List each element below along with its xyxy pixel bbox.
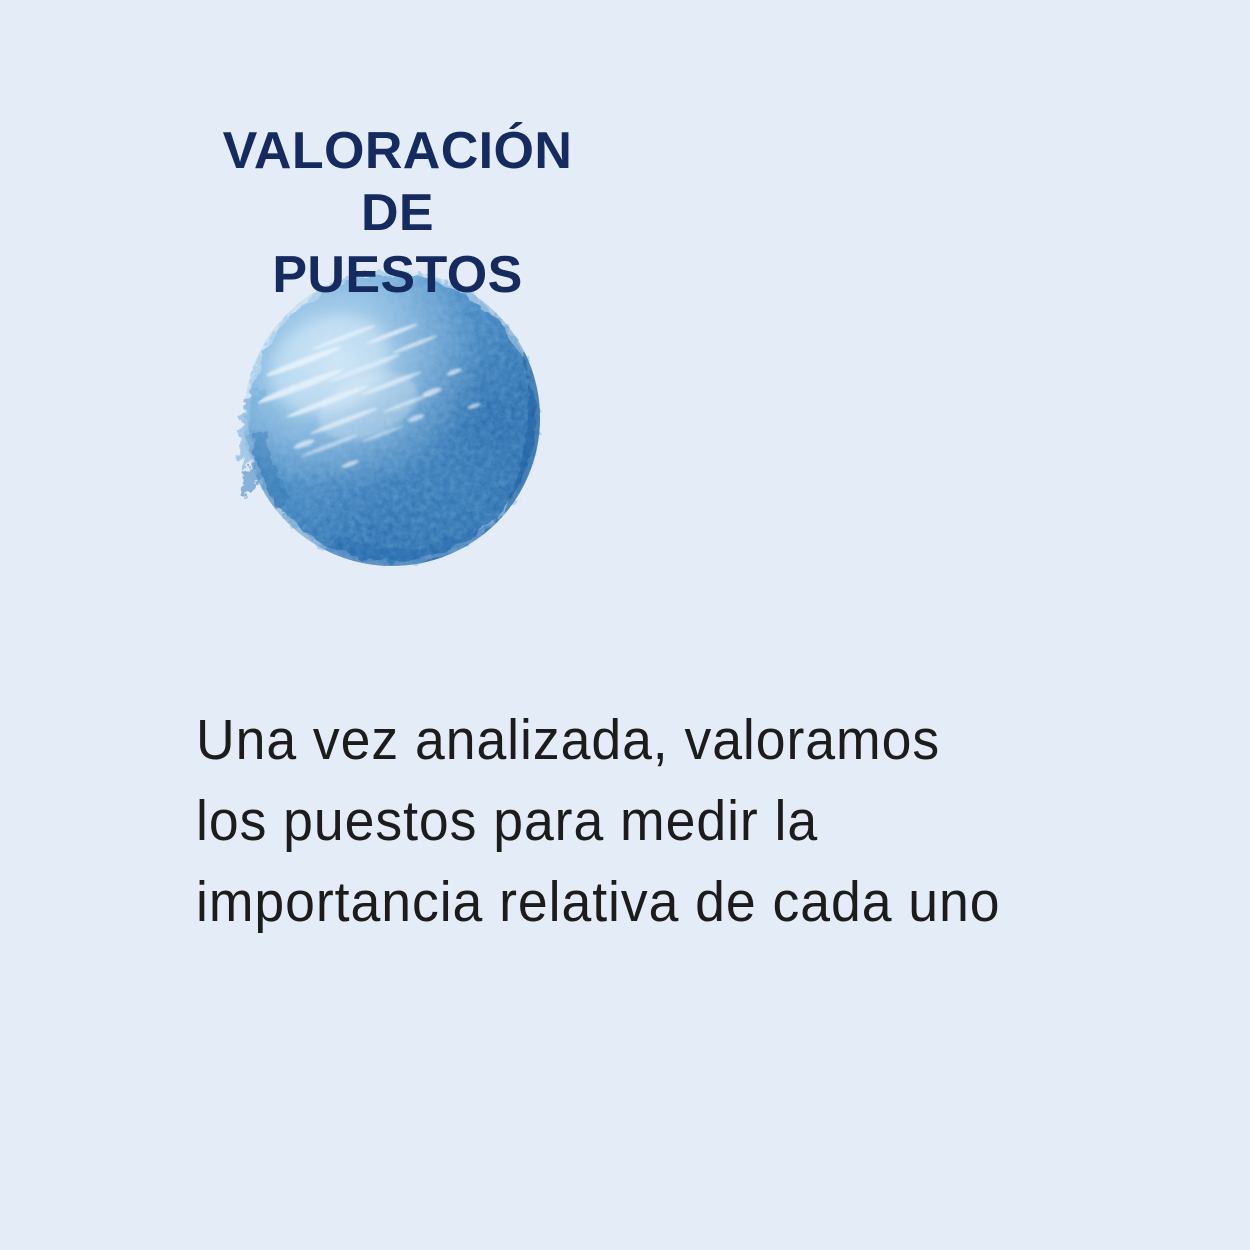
page-title: VALORACIÓN DE PUESTOS: [150, 120, 645, 306]
body-line-2: los puestos para medir la: [196, 781, 1145, 862]
title-line-1: VALORACIÓN: [150, 120, 645, 182]
poster-canvas: VALORACIÓN DE PUESTOS Una vez analizada,…: [0, 0, 1250, 1250]
body-paragraph: Una vez analizada, valoramos los puestos…: [196, 700, 1206, 943]
title-line-3: PUESTOS: [150, 244, 645, 306]
title-line-2: DE: [150, 182, 645, 244]
watercolor-circle-artwork: [218, 268, 566, 568]
body-line-1: Una vez analizada, valoramos: [196, 700, 1145, 781]
body-line-3: importancia relativa de cada uno: [196, 862, 1145, 943]
